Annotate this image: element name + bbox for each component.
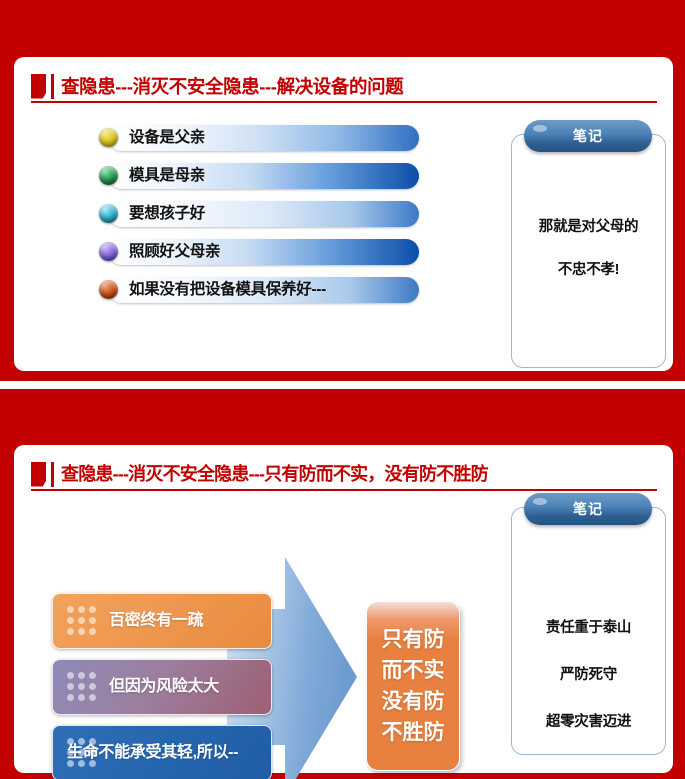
notes-text: 那就是对父母的 不忠不孝! [518,215,659,301]
bullet-dot-icon [99,204,118,223]
slide-2-notes-card: 责任重于泰山 严防死守 超零灾害迈进 笔记 [506,493,666,755]
slide-deck: 查隐患---消灭不安全隐患---解决设备的问题 设备是父亲 模具是母亲 [0,0,685,779]
slide-1-notes-card: 那就是对父母的 不忠不孝! 笔记 [506,120,666,368]
bullet-dot-icon [99,280,118,299]
notes-line: 超零灾害迈进 [518,710,659,731]
bullet-dot-icon [99,242,118,261]
slide-2-title-underline [31,489,657,491]
notes-body: 责任重于泰山 严防死守 超零灾害迈进 [511,507,666,755]
bullet-label: 如果没有把设备模具保养好--- [129,277,326,303]
bullet-label: 设备是父亲 [129,125,205,151]
notes-line: 不忠不孝! [518,258,659,279]
notes-body: 那就是对父母的 不忠不孝! [511,134,666,368]
bullet-dot-icon [99,166,118,185]
bullet-row[interactable]: 照顾好父母亲 [99,239,429,265]
result-line: 而不实 [382,660,445,681]
bullet-label: 模具是母亲 [129,163,205,189]
slide-2-title: 查隐患---消灭不安全隐患---只有防而不实，没有防不胜防 [61,462,488,487]
slide-1-title-underline [31,101,657,103]
result-line: 没有防 [382,691,445,712]
stack-box[interactable]: 百密终有一疏 [52,593,272,649]
stack-box-label: 但因为风险太大 [109,660,219,714]
flag-icon [31,74,47,99]
dot-grid-icon [67,606,97,636]
bullet-row[interactable]: 要想孩子好 [99,201,429,227]
slide-1-title: 查隐患---消灭不安全隐患---解决设备的问题 [61,74,403,99]
title-divider-bar [51,74,54,99]
slide-1-bullet-list: 设备是父亲 模具是母亲 要想孩子好 照顾好父母亲 [99,125,429,315]
slide-2: 查隐患---消灭不安全隐患---只有防而不实，没有防不胜防 [0,389,685,779]
bullet-label: 照顾好父母亲 [129,239,220,265]
bullet-label: 要想孩子好 [129,201,205,227]
stack-box[interactable]: 生命不能承受其轻,所以-- [52,725,272,779]
result-line: 不胜防 [382,722,445,743]
notes-header-label: 笔记 [524,120,652,152]
bullet-row[interactable]: 模具是母亲 [99,163,429,189]
notes-line: 责任重于泰山 [518,616,659,637]
slide-1: 查隐患---消灭不安全隐患---解决设备的问题 设备是父亲 模具是母亲 [0,0,685,381]
stack-box[interactable]: 但因为风险太大 [52,659,272,715]
slide-1-panel: 查隐患---消灭不安全隐患---解决设备的问题 设备是父亲 模具是母亲 [14,57,673,371]
bullet-dot-icon [99,128,118,147]
bullet-row[interactable]: 设备是父亲 [99,125,429,151]
slide-2-title-row: 查隐患---消灭不安全隐患---只有防而不实，没有防不胜防 [31,457,659,491]
slide-2-panel: 查隐患---消灭不安全隐患---只有防而不实，没有防不胜防 [14,445,673,773]
notes-line: 那就是对父母的 [518,215,659,236]
flag-icon [31,462,47,487]
bullet-row[interactable]: 如果没有把设备模具保养好--- [99,277,429,303]
dot-grid-icon [67,672,97,702]
title-divider-bar [51,462,54,487]
stack-box-label: 百密终有一疏 [109,594,203,648]
result-line: 只有防 [382,629,445,650]
notes-line: 严防死守 [518,663,659,684]
slide-1-title-row: 查隐患---消灭不安全隐患---解决设备的问题 [31,69,659,103]
result-panel[interactable]: 只有防 而不实 没有防 不胜防 [366,601,460,771]
slide-2-box-stack: 百密终有一疏 但因为风险太大 生命不能承 [52,593,272,779]
stack-box-label: 生命不能承受其轻,所以-- [67,726,238,779]
notes-header-label: 笔记 [524,493,652,525]
notes-text: 责任重于泰山 严防死守 超零灾害迈进 [518,616,659,757]
